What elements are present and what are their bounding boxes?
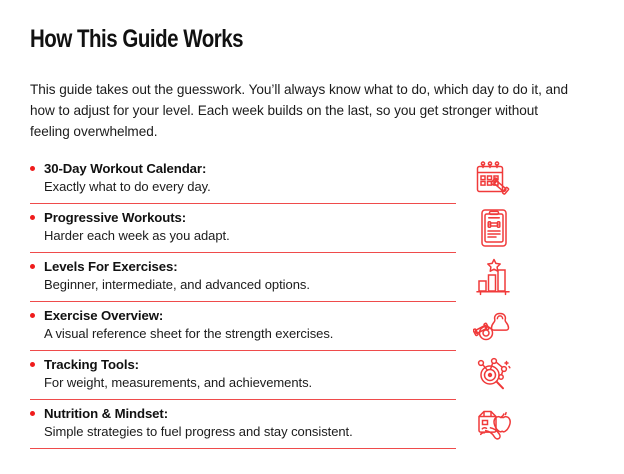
list-item-title: Nutrition & Mindset: <box>44 405 456 422</box>
list-item: Exercise Overview: A visual reference sh… <box>30 302 456 351</box>
bullet-icon <box>30 362 35 367</box>
bullet-icon <box>30 264 35 269</box>
list-item: Levels For Exercises: Beginner, intermed… <box>30 253 456 302</box>
kettlebell-dumbbell-icon <box>472 305 516 347</box>
bullet-icon <box>30 166 35 171</box>
list-item: 30-Day Workout Calendar: Exactly what to… <box>30 155 456 204</box>
list-item: Progressive Workouts: Harder each week a… <box>30 204 456 253</box>
list-item-text: Progressive Workouts: Harder each week a… <box>30 209 456 245</box>
list-item-title: Exercise Overview: <box>44 307 456 324</box>
milk-apple-carrot-icon <box>472 403 516 445</box>
list-item-desc: Beginner, intermediate, and advanced opt… <box>44 276 456 294</box>
list-item: Nutrition & Mindset: Simple strategies t… <box>30 400 456 449</box>
guide-page: How This Guide Works This guide takes ou… <box>0 0 624 474</box>
clipboard-dumbbell-icon <box>472 207 516 249</box>
bar-chart-star-icon <box>472 256 516 298</box>
feature-list: 30-Day Workout Calendar: Exactly what to… <box>30 155 456 449</box>
list-item-text: Nutrition & Mindset: Simple strategies t… <box>30 405 456 441</box>
list-item-text: Exercise Overview: A visual reference sh… <box>30 307 456 343</box>
list-item-title: Progressive Workouts: <box>44 209 456 226</box>
list-item-desc: For weight, measurements, and achievemen… <box>44 374 456 392</box>
bullet-icon <box>30 313 35 318</box>
page-title: How This Guide Works <box>30 24 243 54</box>
list-item-text: Levels For Exercises: Beginner, intermed… <box>30 258 456 294</box>
list-item-text: Tracking Tools: For weight, measurements… <box>30 356 456 392</box>
list-item-desc: Exactly what to do every day. <box>44 178 456 196</box>
list-item-desc: A visual reference sheet for the strengt… <box>44 325 456 343</box>
intro-paragraph: This guide takes out the guesswork. You’… <box>30 79 575 142</box>
bullet-icon <box>30 411 35 416</box>
list-item-title: 30-Day Workout Calendar: <box>44 160 456 177</box>
list-item-text: 30-Day Workout Calendar: Exactly what to… <box>30 160 456 196</box>
list-item-title: Tracking Tools: <box>44 356 456 373</box>
bullet-icon <box>30 215 35 220</box>
list-item-desc: Harder each week as you adapt. <box>44 227 456 245</box>
list-item: Tracking Tools: For weight, measurements… <box>30 351 456 400</box>
list-item-desc: Simple strategies to fuel progress and s… <box>44 423 456 441</box>
list-item-title: Levels For Exercises: <box>44 258 456 275</box>
magnifier-network-icon <box>472 354 516 396</box>
calendar-dumbbell-icon <box>472 158 516 200</box>
